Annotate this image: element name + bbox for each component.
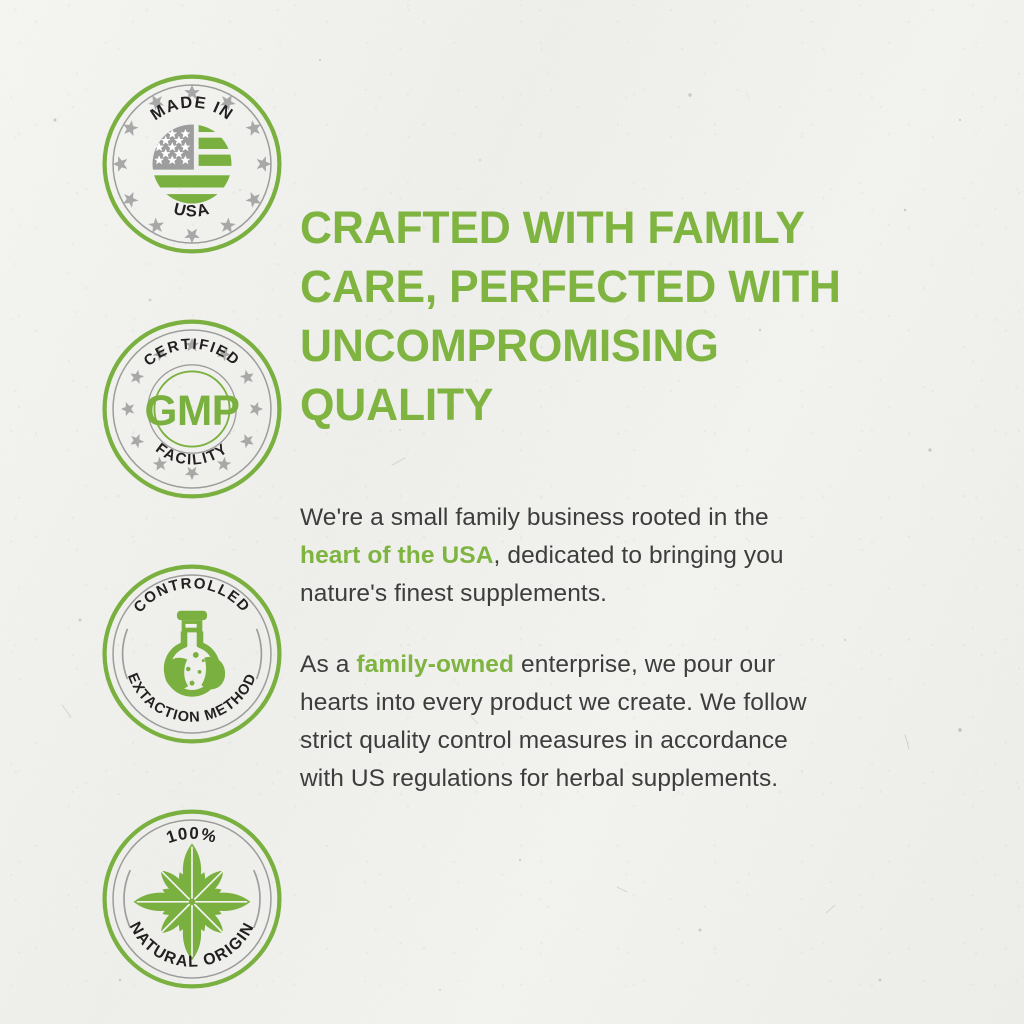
badge-top-text: CONTROLLED bbox=[130, 575, 253, 616]
intro-paragraph: We're a small family business rooted in … bbox=[300, 499, 820, 613]
side-arc-decoration bbox=[123, 630, 262, 679]
certification-badge-column: MADE IN USA bbox=[0, 0, 300, 993]
para1-text-part1: We're a small family business rooted in … bbox=[300, 504, 769, 531]
badge-bottom-text: USA bbox=[172, 200, 212, 221]
badge-natural-origin[interactable]: 100% NATURAL ORIGIN bbox=[98, 805, 286, 993]
badge-made-in-usa[interactable]: MADE IN USA bbox=[98, 70, 286, 258]
flask-leaf-icon bbox=[164, 611, 225, 697]
usa-flag-icon bbox=[150, 123, 244, 207]
badge-controlled-extraction[interactable]: CONTROLLED EXTACTION METHOD bbox=[98, 560, 286, 748]
para1-highlight: heart of the USA bbox=[300, 542, 494, 569]
para2-highlight: family-owned bbox=[356, 651, 514, 678]
content-column: CRAFTED WITH FAMILY CARE, PERFECTED WITH… bbox=[300, 0, 1024, 798]
badge-center-text: GMP bbox=[145, 387, 240, 434]
badge-top-text: 100% bbox=[164, 824, 220, 847]
para2-text-part1: As a bbox=[300, 651, 356, 678]
page-headline: CRAFTED WITH FAMILY CARE, PERFECTED WITH… bbox=[300, 198, 846, 435]
detail-paragraph: As a family-owned enterprise, we pour ou… bbox=[300, 646, 830, 798]
badge-bottom-text: FACILITY bbox=[152, 440, 231, 469]
badge-gmp-certified[interactable]: GMP CERTIFIED FACILITY bbox=[98, 315, 286, 503]
